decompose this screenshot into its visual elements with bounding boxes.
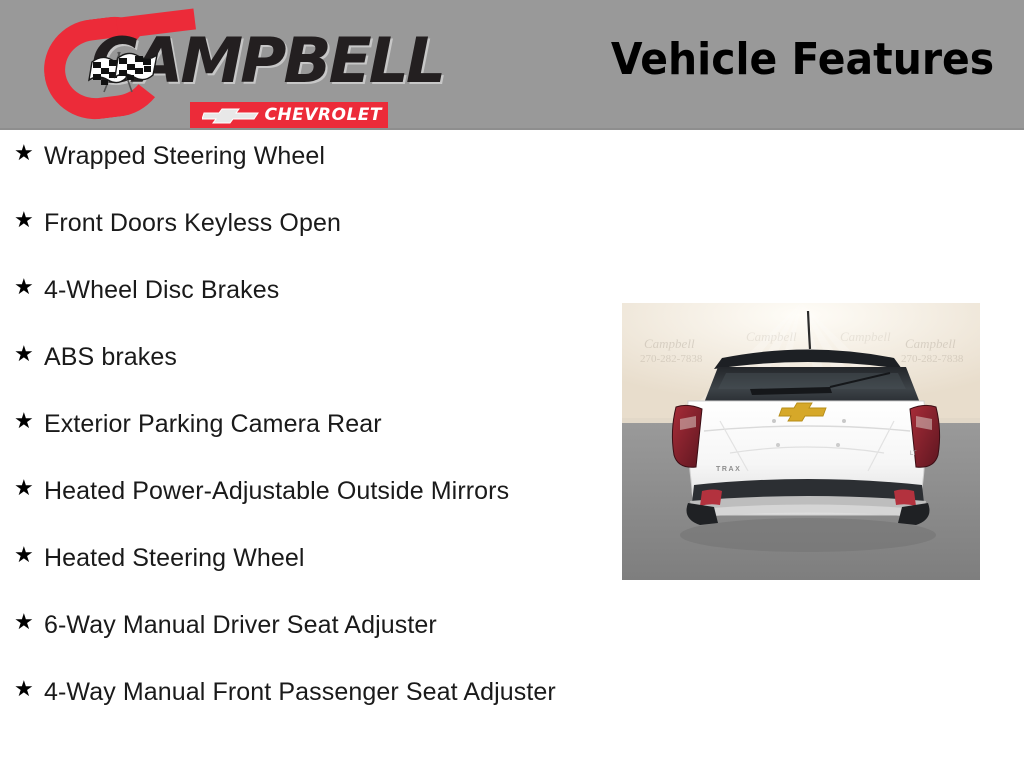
svg-text:270-282-7838: 270-282-7838 xyxy=(640,353,703,365)
star-bullet-icon: ★ xyxy=(14,607,44,637)
svg-text:TRAX: TRAX xyxy=(716,466,741,473)
list-item: ★ Front Doors Keyless Open xyxy=(0,205,600,241)
vehicle-features-list: ★ Wrapped Steering Wheel ★ Front Doors K… xyxy=(0,138,600,710)
svg-text:LT: LT xyxy=(910,451,917,457)
feature-label: Wrapped Steering Wheel xyxy=(44,138,600,174)
list-item: ★ Heated Power-Adjustable Outside Mirror… xyxy=(0,473,600,509)
chevrolet-brand-bar: CHEVROLET xyxy=(190,102,388,128)
feature-label: ABS brakes xyxy=(44,339,600,375)
svg-text:Campbell: Campbell xyxy=(840,329,891,344)
svg-text:Campbell: Campbell xyxy=(644,336,695,351)
star-bullet-icon: ★ xyxy=(14,674,44,704)
list-item: ★ ABS brakes xyxy=(0,339,600,375)
svg-text:Campbell: Campbell xyxy=(746,329,797,344)
svg-text:Campbell: Campbell xyxy=(905,336,956,351)
chevrolet-brand-label: CHEVROLET xyxy=(264,107,382,124)
list-item: ★ Exterior Parking Camera Rear xyxy=(0,406,600,442)
list-item: ★ 6-Way Manual Driver Seat Adjuster xyxy=(0,607,600,643)
star-bullet-icon: ★ xyxy=(14,205,44,235)
feature-label: 6-Way Manual Driver Seat Adjuster xyxy=(44,607,600,643)
star-bullet-icon: ★ xyxy=(14,540,44,570)
feature-label: 4-Way Manual Front Passenger Seat Adjust… xyxy=(44,674,600,710)
star-bullet-icon: ★ xyxy=(14,406,44,436)
feature-label: Heated Steering Wheel xyxy=(44,540,600,576)
checkered-racing-flags-icon xyxy=(84,48,162,100)
feature-label: Front Doors Keyless Open xyxy=(44,205,600,241)
star-bullet-icon: ★ xyxy=(14,339,44,369)
star-bullet-icon: ★ xyxy=(14,473,44,503)
vehicle-photo[interactable]: Campbell 270-282-7838 Campbell 270-282-7… xyxy=(622,303,980,580)
list-item: ★ Heated Steering Wheel xyxy=(0,540,600,576)
chevrolet-bowtie-icon xyxy=(202,106,260,125)
page-title: Vehicle Features xyxy=(611,38,994,82)
dealer-logo[interactable]: CAMPBELL CHEVROLET xyxy=(38,12,388,124)
feature-label: 4-Wheel Disc Brakes xyxy=(44,272,600,308)
star-bullet-icon: ★ xyxy=(14,138,44,168)
page-header: CAMPBELL CHEVROLET Vehicle Features xyxy=(0,0,1024,130)
svg-text:270-282-7838: 270-282-7838 xyxy=(901,353,964,365)
feature-label: Heated Power-Adjustable Outside Mirrors xyxy=(44,473,600,509)
star-bullet-icon: ★ xyxy=(14,272,44,302)
list-item: ★ Wrapped Steering Wheel xyxy=(0,138,600,174)
list-item: ★ 4-Wheel Disc Brakes xyxy=(0,272,600,308)
feature-label: Exterior Parking Camera Rear xyxy=(44,406,600,442)
list-item: ★ 4-Way Manual Front Passenger Seat Adju… xyxy=(0,674,600,710)
